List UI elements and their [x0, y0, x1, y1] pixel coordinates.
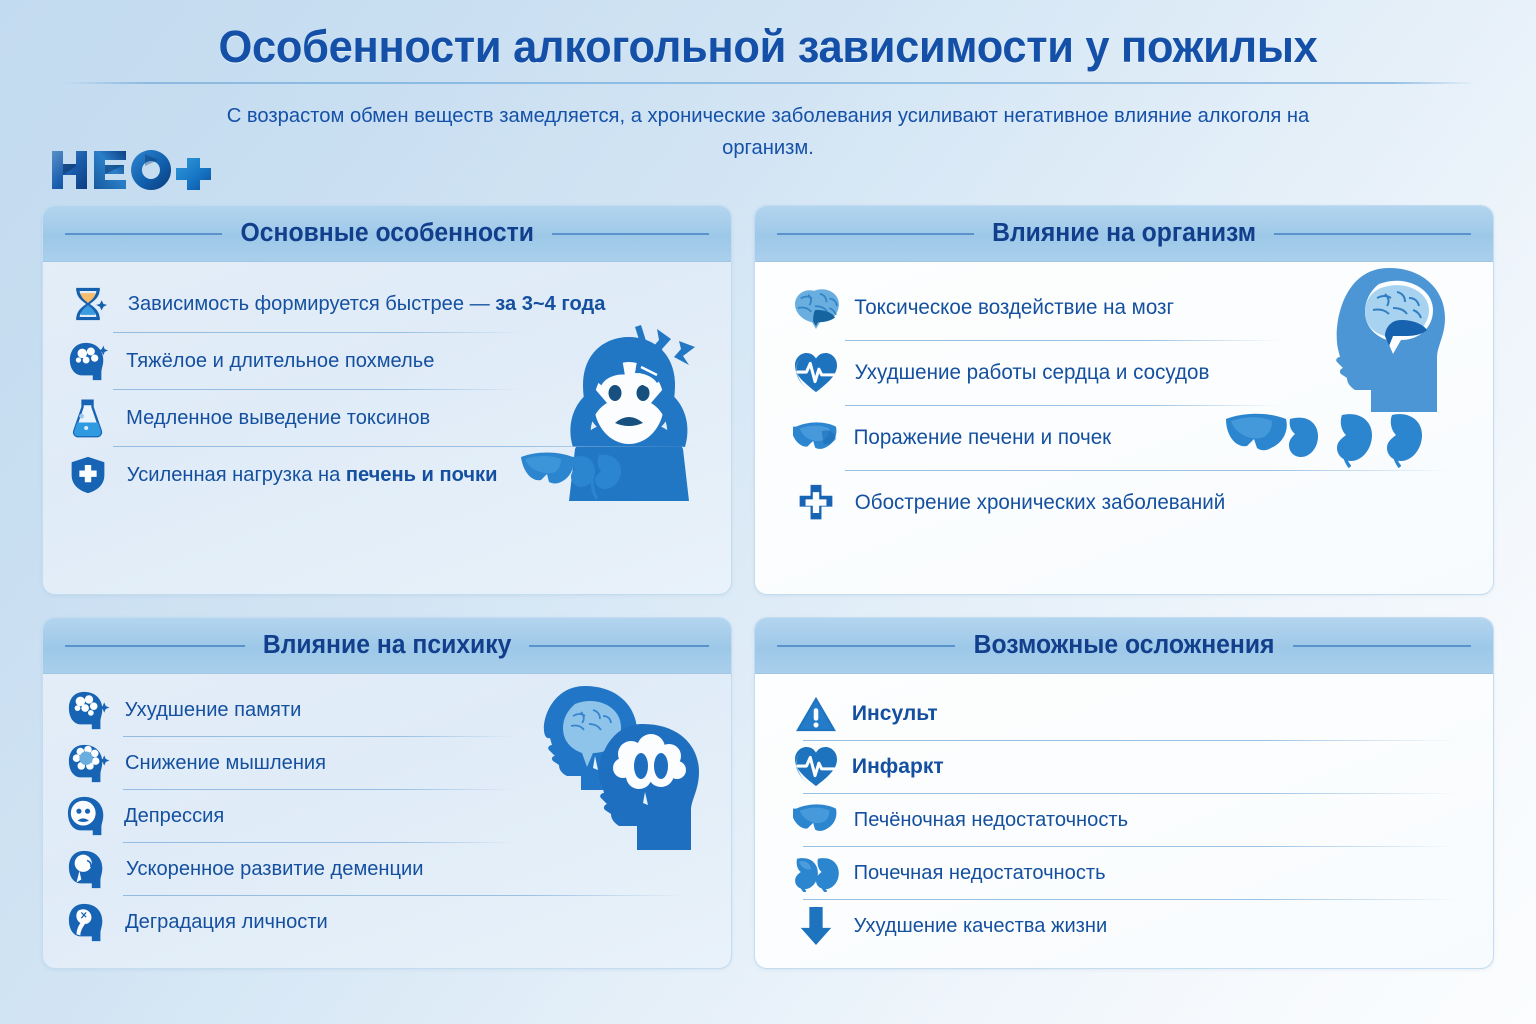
- list-item[interactable]: Ухудшение памяти: [65, 684, 711, 736]
- list-item-label: Усиленная нагрузка на печень и почки: [127, 463, 498, 488]
- title-divider: [61, 82, 1476, 84]
- list-item-label: Инсульт: [852, 701, 938, 727]
- card-header: Влияние на организм: [755, 206, 1493, 262]
- list-item-label: Зависимость формируется быстрее — за 3~4…: [128, 292, 606, 317]
- card-body: Ухудшение памяти: [43, 674, 731, 964]
- header-line-left: [777, 233, 974, 235]
- heart-pulse-icon: [793, 744, 839, 790]
- card-body-impact: Влияние на организм: [754, 205, 1494, 595]
- list-item-label: Инфаркт: [852, 754, 944, 780]
- list-item-label: Тяжёлое и длительное похмелье: [126, 349, 434, 374]
- list-item[interactable]: Медленное выведение токсинов: [65, 390, 711, 446]
- list-item[interactable]: Печёночная недостаточность: [793, 794, 1473, 846]
- list-item[interactable]: Поражение печени и почек: [793, 406, 1473, 470]
- card-title: Возможные осложнения: [974, 631, 1275, 660]
- list-item-label: Токсическое воздействие на мозг: [854, 295, 1174, 320]
- brain-icon: [793, 285, 839, 331]
- head-memory-loss-icon: [65, 687, 111, 733]
- card-possible-complications: Возможные осложнения Инсульт: [754, 617, 1494, 969]
- card-body: Инсульт Инфаркт: [755, 674, 1493, 968]
- list-item-label: Медленное выведение токсинов: [126, 406, 430, 431]
- cross-medical-icon: [793, 480, 839, 526]
- header-line-right: [1293, 645, 1471, 647]
- head-thinking-decline-icon: [65, 740, 111, 786]
- list-item-label: Печёночная недостаточность: [854, 808, 1128, 833]
- page-header: Особенности алкогольной зависимости у по…: [0, 0, 1536, 164]
- flask-icon: [65, 395, 111, 441]
- page-subtitle: С возрастом обмен веществ замедляется, а…: [197, 100, 1340, 164]
- list-item[interactable]: Тяжёлое и длительное похмелье: [65, 333, 711, 389]
- card-title: Влияние на организм: [992, 219, 1256, 248]
- card-mental-impact: Влияние на психику: [42, 617, 732, 969]
- head-dementia-icon: [65, 846, 111, 892]
- header-line-left: [65, 645, 245, 647]
- cards-grid: Основные особенности: [0, 205, 1536, 969]
- list-item-label: Ухудшение памяти: [125, 698, 302, 723]
- list-item[interactable]: Депрессия: [65, 790, 711, 842]
- list-item-label: Деградация личности: [125, 910, 328, 935]
- hourglass-icon: [65, 281, 111, 327]
- list-item[interactable]: Ускоренное развитие деменции: [65, 843, 711, 895]
- head-degradation-icon: [65, 899, 111, 945]
- list-item-label: Ускоренное развитие деменции: [126, 857, 423, 882]
- heart-pulse-icon: [793, 350, 839, 396]
- list-item-label: Поражение печени и почек: [854, 425, 1112, 450]
- liver-kidney-illustration: [517, 447, 627, 503]
- card-main-features: Основные особенности: [42, 205, 732, 595]
- list-item[interactable]: Почечная недостаточность: [793, 847, 1473, 899]
- card-title: Основные особенности: [240, 219, 533, 248]
- card-body: Токсическое воздействие на мозг Ухудшени…: [755, 262, 1493, 551]
- shield-cross-icon: [65, 452, 111, 498]
- liver-icon: [793, 797, 839, 843]
- list-item[interactable]: Инфаркт: [793, 741, 1473, 793]
- card-title: Влияние на психику: [263, 631, 512, 660]
- list-item-label: Депрессия: [124, 804, 224, 829]
- header-line-left: [777, 645, 955, 647]
- list-item[interactable]: Снижение мышления: [65, 737, 711, 789]
- page-title: Особенности алкогольной зависимости у по…: [27, 22, 1509, 72]
- neo-plus-logo: [48, 145, 213, 197]
- list-item[interactable]: Токсическое воздействие на мозг: [793, 276, 1473, 340]
- header-line-right: [1274, 233, 1471, 235]
- card-header: Влияние на психику: [43, 618, 731, 674]
- list-item[interactable]: Усиленная нагрузка на печень и почки: [65, 447, 711, 503]
- card-body: Зависимость формируется быстрее — за 3~4…: [43, 262, 731, 519]
- header-line-left: [65, 233, 222, 235]
- liver-kidney-illustration: [1222, 407, 1432, 469]
- list-item-label: Почечная недостаточность: [854, 861, 1106, 886]
- list-item[interactable]: Деградация личности: [65, 896, 711, 948]
- card-header: Возможные осложнения: [755, 618, 1493, 674]
- warning-triangle-icon: [793, 691, 839, 737]
- list-item-label: Ухудшение работы сердца и сосудов: [855, 360, 1210, 385]
- header-line-right: [529, 645, 709, 647]
- card-header: Основные особенности: [43, 206, 731, 262]
- list-item-label: Ухудшение качества жизни: [854, 914, 1108, 939]
- head-hangover-icon: [65, 338, 111, 384]
- list-item-label: Обострение хронических заболеваний: [855, 490, 1226, 515]
- list-item[interactable]: Инсульт: [793, 688, 1473, 740]
- list-item[interactable]: Обострение хронических заболеваний: [793, 471, 1473, 535]
- liver-icon: [793, 415, 839, 461]
- list-item-label: Снижение мышления: [125, 751, 326, 776]
- list-item[interactable]: Зависимость формируется быстрее — за 3~4…: [65, 276, 711, 332]
- list-item[interactable]: Ухудшение качества жизни: [793, 900, 1473, 952]
- header-line-right: [552, 233, 709, 235]
- list-item[interactable]: Ухудшение работы сердца и сосудов: [793, 341, 1473, 405]
- kidney-icon: [793, 850, 839, 896]
- head-sad-face-icon: [65, 793, 111, 839]
- arrow-down-icon: [793, 903, 839, 949]
